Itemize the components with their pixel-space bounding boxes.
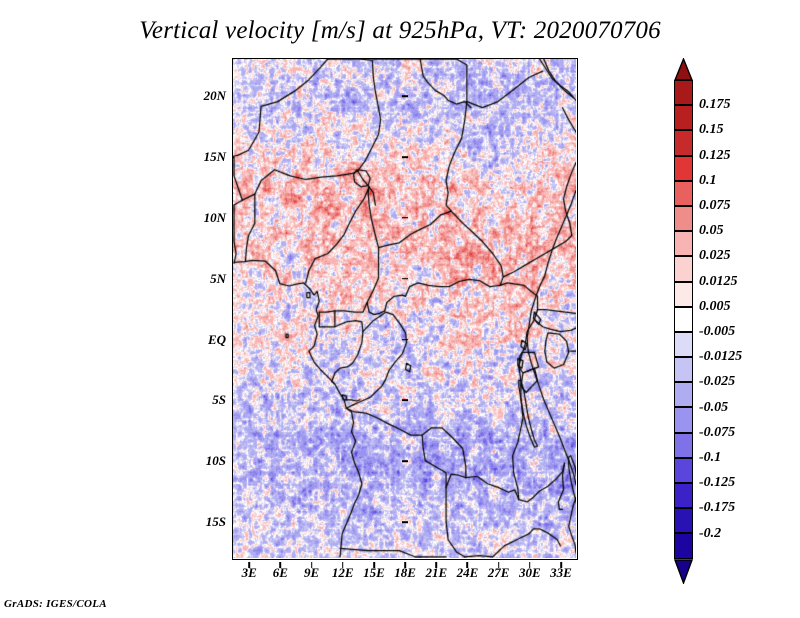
y-axis-tick-mark xyxy=(402,278,408,280)
colorbar-segment xyxy=(674,307,693,332)
colorbar-tick-label: -0.025 xyxy=(699,374,735,390)
colorbar-segment xyxy=(674,332,693,357)
colorbar-tick-label: 0.025 xyxy=(699,248,731,264)
x-axis-tick-mark xyxy=(248,562,250,568)
colorbar-segments xyxy=(674,80,693,559)
colorbar-segment xyxy=(674,407,693,432)
y-axis-tick-label: 10N xyxy=(204,210,226,226)
colorbar-tick-label: 0.1 xyxy=(699,173,717,189)
map-plot-panel xyxy=(232,58,578,560)
colorbar-tick-label: 0.125 xyxy=(699,148,731,164)
colorbar-tick-label: -0.2 xyxy=(699,526,721,542)
y-axis-tick-mark xyxy=(402,460,408,462)
colorbar-tick-label: -0.125 xyxy=(699,475,735,491)
colorbar-tick-label: 0.005 xyxy=(699,299,731,315)
colorbar-tick-label: 0.175 xyxy=(699,97,731,113)
x-axis-tick-mark xyxy=(467,562,469,568)
x-axis: 3E6E9E12E15E18E21E24E27E30E33E xyxy=(232,562,578,586)
colorbar-segment xyxy=(674,382,693,407)
colorbar-tick-label: -0.005 xyxy=(699,324,735,340)
colorbar-segment xyxy=(674,156,693,181)
y-axis-tick-label: EQ xyxy=(208,332,226,348)
colorbar-tick-label: -0.075 xyxy=(699,425,735,441)
footer-credit: GrADS: IGES/COLA xyxy=(4,598,107,610)
colorbar-tick-label: 0.075 xyxy=(699,198,731,214)
y-axis-tick-label: 5N xyxy=(210,271,226,287)
colorbar-tick-label: 0.05 xyxy=(699,223,724,239)
y-axis-tick-mark xyxy=(402,95,408,97)
colorbar-segment xyxy=(674,483,693,508)
colorbar-segment xyxy=(674,206,693,231)
x-axis-tick-mark xyxy=(311,562,313,568)
y-axis-tick-mark xyxy=(402,156,408,158)
colorbar-segment xyxy=(674,533,693,558)
y-axis-tick-label: 10S xyxy=(206,453,226,469)
x-axis-tick-mark xyxy=(560,562,562,568)
x-axis-tick-mark xyxy=(498,562,500,568)
x-axis-tick-mark xyxy=(342,562,344,568)
colorbar-segment xyxy=(674,508,693,533)
colorbar-segment xyxy=(674,231,693,256)
y-axis-tick-label: 5S xyxy=(212,392,226,408)
y-axis-tick-label: 20N xyxy=(204,88,226,104)
colorbar-segment xyxy=(674,105,693,130)
y-axis-tick-label: 15N xyxy=(204,149,226,165)
colorbar-tick-label: -0.1 xyxy=(699,450,721,466)
colorbar-segment xyxy=(674,357,693,382)
y-axis-tick-mark xyxy=(402,400,408,402)
colorbar-segment xyxy=(674,433,693,458)
colorbar-segment xyxy=(674,130,693,155)
x-axis-tick-mark xyxy=(435,562,437,568)
colorbar-tick-label: 0.15 xyxy=(699,122,724,138)
colorbar-tick-label: -0.0125 xyxy=(699,349,742,365)
colorbar-segment xyxy=(674,282,693,307)
colorbar-tick-label: 0.0125 xyxy=(699,274,738,290)
x-axis-tick-mark xyxy=(529,562,531,568)
page-title: Vertical velocity [m/s] at 925hPa, VT: 2… xyxy=(0,17,800,45)
colorbar-segment xyxy=(674,80,693,105)
colorbar-tick-label: -0.05 xyxy=(699,400,728,416)
colorbar-segment xyxy=(674,181,693,206)
y-axis: 20N15N10N5NEQ5S10S15S xyxy=(176,58,226,560)
x-axis-tick-mark xyxy=(404,562,406,568)
x-axis-tick-mark xyxy=(280,562,282,568)
y-axis-tick-label: 15S xyxy=(206,514,226,530)
colorbar-segment xyxy=(674,256,693,281)
colorbar-tick-label: -0.175 xyxy=(699,500,735,516)
colorbar-segment xyxy=(674,458,693,483)
colorbar: 0.1750.150.1250.10.0750.050.0250.01250.0… xyxy=(666,58,796,558)
country-borders-overlay xyxy=(233,59,576,558)
y-axis-tick-mark xyxy=(402,339,408,341)
x-axis-tick-mark xyxy=(373,562,375,568)
y-axis-tick-mark xyxy=(402,217,408,219)
y-axis-tick-mark xyxy=(402,521,408,523)
